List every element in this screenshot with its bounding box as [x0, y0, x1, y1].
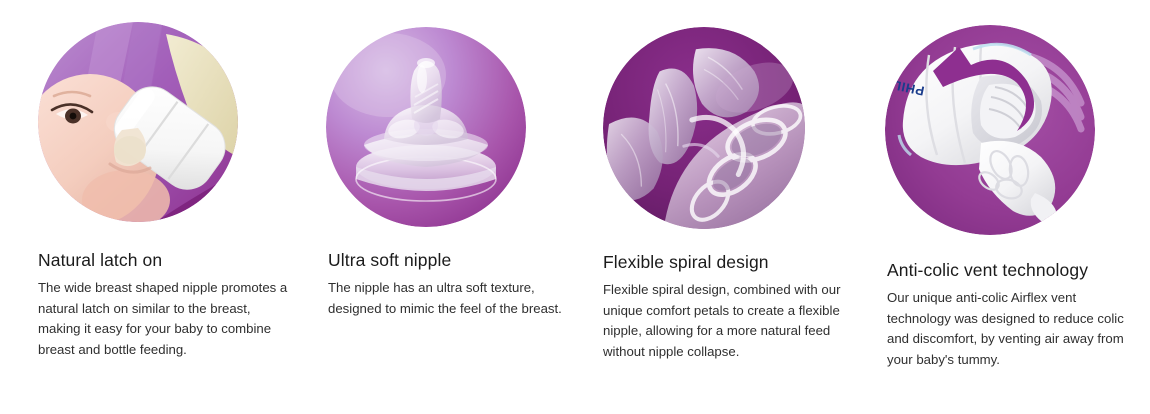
feature-card-anti-colic-vent-technology: PHILIPS Anti-colic vent technology Our u…: [849, 0, 1132, 414]
feature-title: Anti-colic vent technology: [887, 260, 1132, 281]
feature-title: Natural latch on: [38, 250, 283, 271]
anti-colic-airflex-vent-photo: PHILIPS: [885, 25, 1095, 235]
feature-grid: Natural latch on The wide breast shaped …: [0, 0, 1150, 414]
feature-description: Flexible spiral design, combined with ou…: [603, 280, 855, 362]
feature-card-natural-latch-on: Natural latch on The wide breast shaped …: [0, 0, 283, 414]
spiral-comfort-petals-macro-photo: [603, 27, 805, 229]
silicone-nipple-photo: [326, 27, 526, 227]
feature-description: The nipple has an ultra soft texture, de…: [328, 278, 580, 319]
feature-description: The wide breast shaped nipple promotes a…: [38, 278, 290, 360]
feature-title: Ultra soft nipple: [328, 250, 566, 271]
feature-title: Flexible spiral design: [603, 252, 849, 273]
baby-feeding-from-bottle-photo: [38, 22, 238, 222]
feature-description: Our unique anti-colic Airflex vent techn…: [887, 288, 1137, 370]
feature-card-flexible-spiral-design: Flexible spiral design Flexible spiral d…: [566, 0, 849, 414]
feature-card-ultra-soft-nipple: Ultra soft nipple The nipple has an ultr…: [283, 0, 566, 414]
